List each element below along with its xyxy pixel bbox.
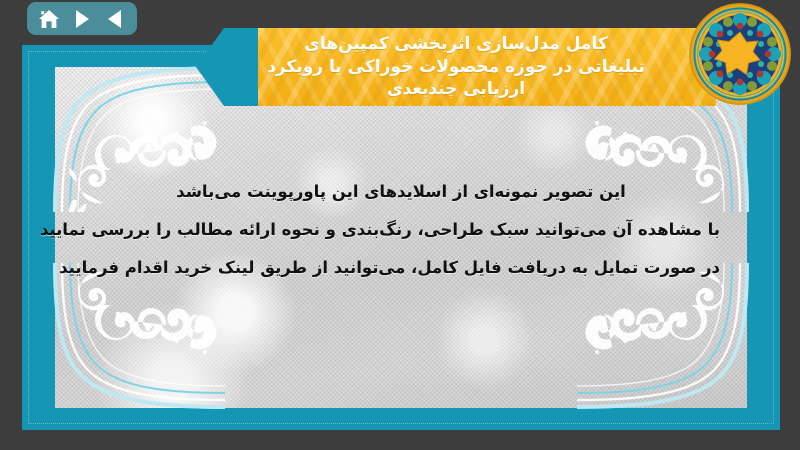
slide-viewer: این تصویر نمونه‌ای از اسلایدهای این پاور… [0, 0, 800, 450]
body-line-1: این تصویر نمونه‌ای از اسلایدهای این پاور… [82, 173, 720, 211]
title-line-3: ارزیابی چندبعدی [387, 78, 525, 101]
title-line-2: تبلیغاتی در حوزه محصولات خوراکی با رویکر… [267, 56, 645, 79]
body-line-3: در صورت تمایل به دریافت فایل کامل، می‌تو… [82, 249, 720, 287]
home-icon [38, 9, 60, 29]
title-line-1: کامل مدل‌سازی اثربخشی کمپین‌های [304, 33, 607, 56]
page-title: کامل مدل‌سازی اثربخشی کمپین‌های تبلیغاتی… [196, 28, 716, 106]
forward-triangle-icon [76, 10, 89, 28]
title-banner: کامل مدل‌سازی اثربخشی کمپین‌های تبلیغاتی… [196, 28, 716, 106]
back-button[interactable] [102, 7, 128, 31]
forward-button[interactable] [69, 7, 95, 31]
back-triangle-icon [108, 10, 121, 28]
navigation-bar[interactable] [27, 2, 137, 35]
slide-body-text: این تصویر نمونه‌ای از اسلایدهای این پاور… [82, 173, 720, 287]
body-line-2: با مشاهده آن می‌توانید سبک طراحی، رنگ‌بن… [82, 211, 720, 249]
home-button[interactable] [36, 7, 62, 31]
